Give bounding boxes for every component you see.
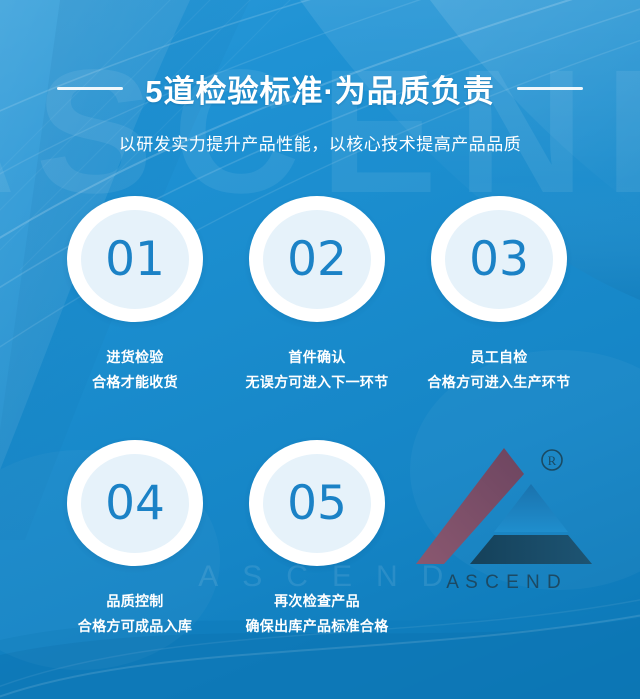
header: 5道检验标准·为品质负责 以研发实力提升产品性能，以核心技术提高产品品质 bbox=[0, 66, 640, 155]
step-number: 01 bbox=[105, 236, 165, 283]
step-item-04: 04 品质控制 合格方可成品入库 bbox=[44, 440, 226, 636]
step-item-02: 02 首件确认 无误方可进入下一环节 bbox=[226, 196, 408, 392]
step-description: 合格方可成品入库 bbox=[78, 616, 192, 636]
step-badge: 01 bbox=[67, 196, 203, 322]
title-rule-right-icon bbox=[517, 87, 583, 90]
logo-base-trapezoid bbox=[470, 535, 592, 564]
step-badge: 03 bbox=[431, 196, 567, 322]
step-text: 首件确认 无误方可进入下一环节 bbox=[246, 347, 389, 392]
step-badge-inner: 04 bbox=[81, 454, 189, 553]
step-description: 无误方可进入下一环节 bbox=[246, 372, 389, 392]
step-number: 03 bbox=[469, 236, 529, 283]
registered-trademark-icon: R bbox=[542, 450, 562, 470]
step-description: 确保出库产品标准合格 bbox=[246, 616, 389, 636]
step-badge: 04 bbox=[67, 440, 203, 566]
step-title: 员工自检 bbox=[428, 347, 571, 367]
title-rule-left-icon bbox=[57, 87, 123, 90]
step-number: 05 bbox=[287, 480, 347, 527]
step-text: 员工自检 合格方可进入生产环节 bbox=[428, 347, 571, 392]
promo-banner: ASCEND ASCEND 5道检验标准·为品质负责 以研发实力提升产品性能，以… bbox=[0, 0, 640, 699]
step-badge-inner: 03 bbox=[445, 210, 553, 309]
step-text: 再次检查产品 确保出库产品标准合格 bbox=[246, 591, 389, 636]
page-title: 5道检验标准·为品质负责 bbox=[145, 66, 495, 111]
step-title: 首件确认 bbox=[246, 347, 389, 367]
step-number: 04 bbox=[105, 480, 165, 527]
steps-row-1: 01 进货检验 合格才能收货 02 首件确认 无误方可进入下一环节 bbox=[0, 196, 640, 392]
svg-text:R: R bbox=[548, 453, 557, 468]
ascend-logo-graphic: R A S C E N D bbox=[412, 438, 624, 598]
step-badge: 02 bbox=[249, 196, 385, 322]
step-description: 合格才能收货 bbox=[92, 372, 178, 392]
step-title: 品质控制 bbox=[78, 591, 192, 611]
title-row: 5道检验标准·为品质负责 bbox=[0, 66, 640, 111]
step-number: 02 bbox=[287, 236, 347, 283]
ascend-logo: R A S C E N D bbox=[412, 438, 624, 598]
step-item-01: 01 进货检验 合格才能收货 bbox=[44, 196, 226, 392]
page-subtitle: 以研发实力提升产品性能，以核心技术提高产品品质 bbox=[0, 130, 640, 155]
step-text: 进货检验 合格才能收货 bbox=[92, 347, 178, 392]
step-badge-inner: 02 bbox=[263, 210, 371, 309]
step-item-03: 03 员工自检 合格方可进入生产环节 bbox=[408, 196, 590, 392]
step-badge-inner: 01 bbox=[81, 210, 189, 309]
step-title: 进货检验 bbox=[92, 347, 178, 367]
step-title: 再次检查产品 bbox=[246, 591, 389, 611]
step-description: 合格方可进入生产环节 bbox=[428, 372, 571, 392]
step-badge: 05 bbox=[249, 440, 385, 566]
step-text: 品质控制 合格方可成品入库 bbox=[78, 591, 192, 636]
logo-wordmark: A S C E N D bbox=[446, 572, 562, 593]
step-item-05: 05 再次检查产品 确保出库产品标准合格 bbox=[226, 440, 408, 636]
step-badge-inner: 05 bbox=[263, 454, 371, 553]
